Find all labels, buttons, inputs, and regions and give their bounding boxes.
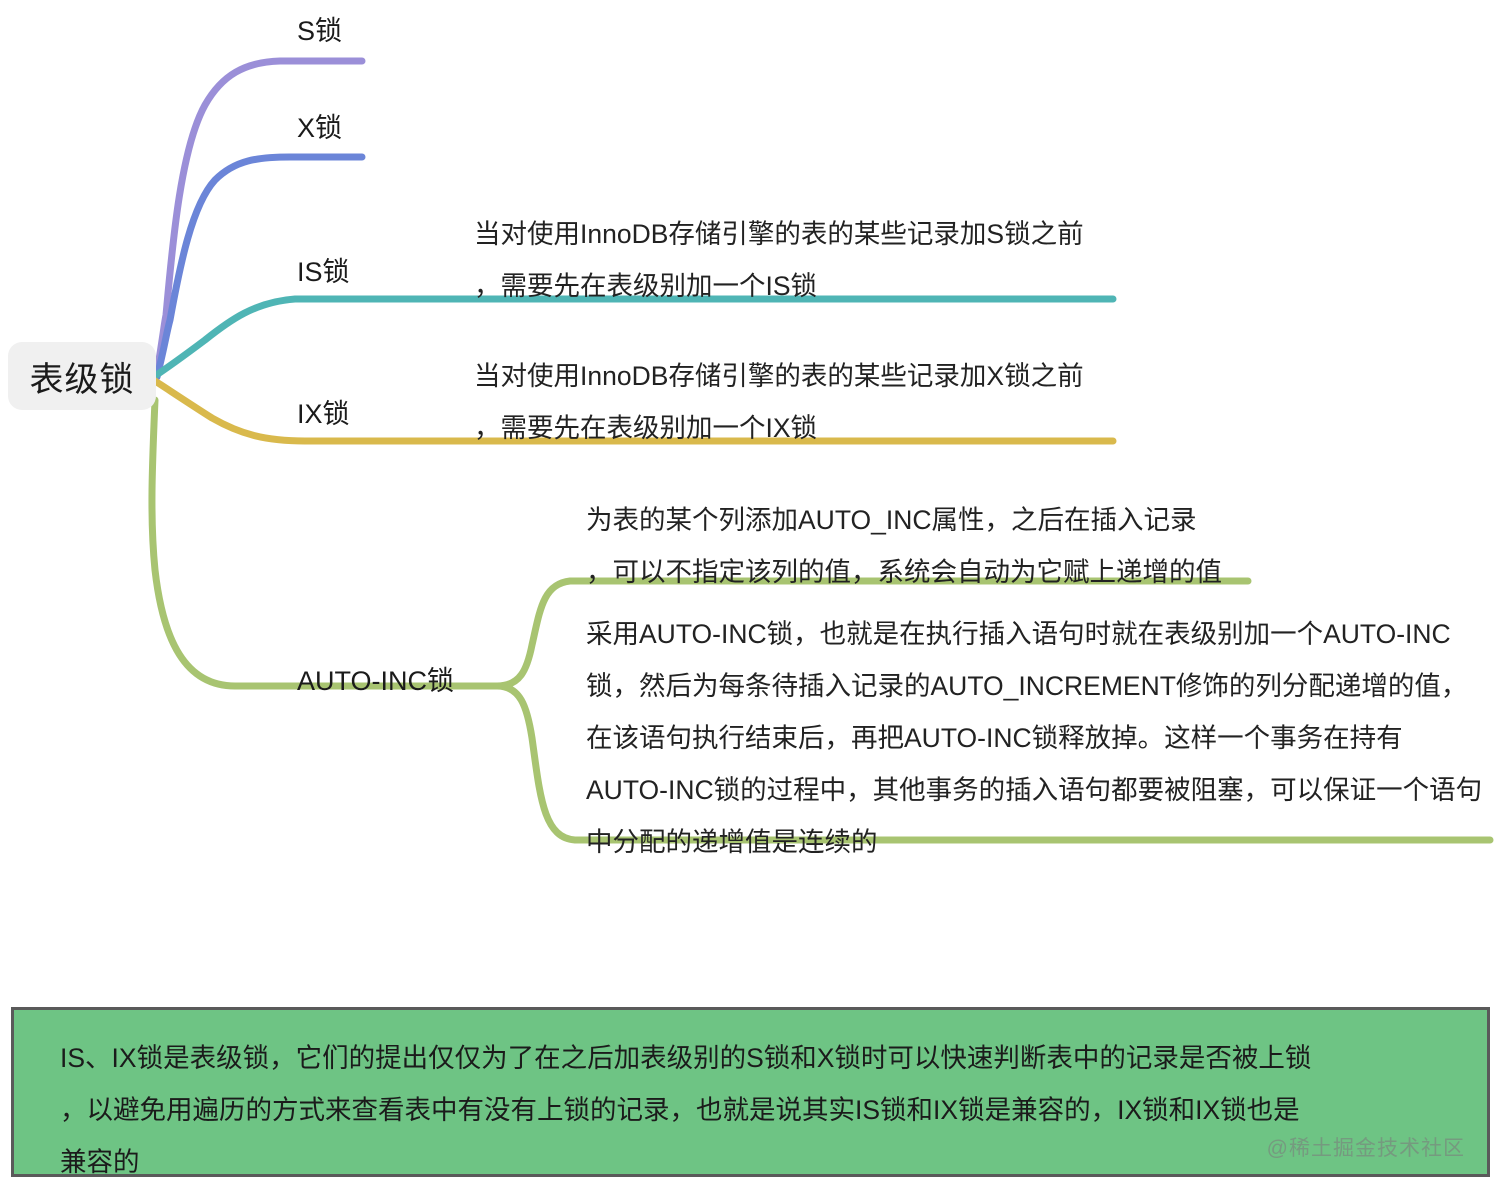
root-node[interactable]: 表级锁 (8, 342, 156, 410)
watermark-label: @稀土掘金技术社区 (1267, 1132, 1465, 1162)
node-label-ix-lock[interactable]: IX锁 (297, 397, 350, 432)
mindmap-canvas: 表级锁 S锁 X锁 IS锁 IX锁 AUTO-INC锁 当对使用InnoDB存储… (0, 0, 1512, 1198)
node-label-is-lock[interactable]: IS锁 (297, 255, 350, 290)
branch-line-auto-inc-lock (152, 400, 497, 686)
node-label-auto-inc-lock[interactable]: AUTO-INC锁 (297, 664, 454, 699)
description-is-lock: 当对使用InnoDB存储引擎的表的某些记录加S锁之前 ，需要先在表级别加一个IS… (474, 208, 1134, 312)
node-label-x-lock[interactable]: X锁 (297, 111, 342, 146)
description-auto-inc-lock-detail: 采用AUTO-INC锁，也就是在执行插入语句时就在表级别加一个AUTO-INC … (586, 608, 1498, 868)
footer-note-box: IS、IX锁是表级锁，它们的提出仅仅为了在之后加表级别的S锁和X锁时可以快速判断… (11, 1007, 1490, 1177)
description-auto-inc-attribute: 为表的某个列添加AUTO_INC属性，之后在插入记录 ，可以不指定该列的值，系统… (586, 494, 1266, 598)
branch-line-s-lock (156, 61, 362, 376)
footer-note-text: IS、IX锁是表级锁，它们的提出仅仅为了在之后加表级别的S锁和X锁时可以快速判断… (60, 1032, 1460, 1188)
node-label-s-lock[interactable]: S锁 (297, 14, 342, 49)
root-node-label: 表级锁 (30, 352, 135, 401)
description-ix-lock: 当对使用InnoDB存储引擎的表的某些记录加X锁之前 ，需要先在表级别加一个IX… (474, 350, 1134, 454)
